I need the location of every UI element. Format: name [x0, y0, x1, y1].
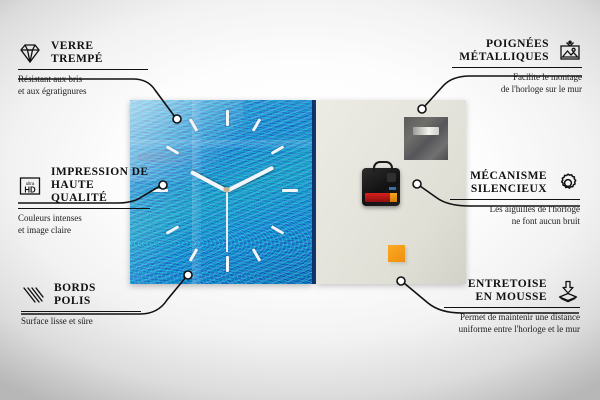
- clock-front-face: [130, 100, 312, 284]
- callout-title-line1: BORDS: [54, 282, 96, 295]
- callout-subtitle-line1: Permet de maintenir une distance: [444, 312, 580, 324]
- clock-mechanism: [362, 168, 400, 206]
- callout-bords-polis[interactable]: BORDS POLIS Surface lisse et sûre: [21, 282, 141, 328]
- clock-back-face: [316, 100, 466, 284]
- clock-hand-second: [226, 190, 228, 252]
- callout-title-line1: IMPRESSION DE: [51, 166, 150, 179]
- callout-title-line2: HAUTE QUALITÉ: [51, 179, 150, 205]
- callout-title-line2: EN MOUSSE: [468, 291, 547, 304]
- callout-subtitle-line1: Résistant aux bris: [18, 74, 148, 86]
- callout-poignees-metalliques[interactable]: POIGNÉES MÉTALLIQUES Facilite le montage…: [452, 38, 582, 95]
- callout-header: BORDS POLIS: [21, 282, 141, 308]
- svg-text:HD: HD: [24, 185, 36, 194]
- callout-header: ultra HD IMPRESSION DE HAUTE QUALITÉ: [18, 166, 150, 205]
- callout-verre-trempe[interactable]: VERRE TREMPÉ Résistant aux bris et aux é…: [18, 40, 148, 97]
- callout-subtitle-line1: Couleurs intenses: [18, 213, 150, 225]
- callout-subtitle-line1: Les aiguilles de l'horloge: [450, 204, 580, 216]
- callout-header: VERRE TREMPÉ: [18, 40, 148, 66]
- mechanism-dial: [387, 173, 396, 182]
- mechanism-hanging-loop: [373, 161, 393, 172]
- callout-subtitle-line1: Facilite le montage: [452, 72, 582, 84]
- mechanism-label: [389, 187, 396, 190]
- ultra-hd-icon: ultra HD: [18, 174, 42, 198]
- polished-edges-icon: [21, 283, 45, 307]
- callout-title-line1: MÉCANISME: [470, 170, 547, 183]
- clock-tick: [226, 110, 229, 126]
- callout-header: MÉCANISME SILENCIEUX: [450, 170, 580, 196]
- callout-subtitle-line1: Surface lisse et sûre: [21, 316, 141, 328]
- pattern-crossbar-horizontal: [130, 140, 312, 148]
- product-photo: [130, 100, 466, 284]
- callout-header: ENTRETOISE EN MOUSSE: [444, 278, 580, 304]
- callout-subtitle: Permet de maintenir une distance uniform…: [444, 312, 580, 335]
- callout-subtitle-line2: ne font aucun bruit: [450, 216, 580, 228]
- callout-rule: [18, 208, 150, 209]
- callout-subtitle: Couleurs intenses et image claire: [18, 213, 150, 236]
- callout-subtitle-line2: et aux égratignures: [18, 86, 148, 98]
- clock-tick: [152, 189, 168, 192]
- callout-rule: [18, 69, 148, 70]
- clock-tick: [282, 189, 298, 192]
- callout-subtitle-line2: et image claire: [18, 225, 150, 237]
- callout-subtitle-line2: de l'horloge sur le mur: [452, 84, 582, 96]
- callout-title-line2: SILENCIEUX: [470, 183, 547, 196]
- infographic-canvas: VERRE TREMPÉ Résistant aux bris et aux é…: [0, 0, 600, 400]
- clock-hand-hub: [224, 187, 229, 192]
- callout-rule: [444, 307, 580, 308]
- callout-subtitle: Résistant aux bris et aux égratignures: [18, 74, 148, 97]
- callout-rule: [452, 67, 582, 68]
- foam-spacer-icon: [556, 279, 580, 303]
- callout-header: POIGNÉES MÉTALLIQUES: [452, 38, 582, 64]
- diamond-icon: [18, 41, 42, 65]
- callout-rule: [21, 311, 141, 312]
- callout-title-line2: MÉTALLIQUES: [459, 51, 549, 64]
- gear-icon: [556, 171, 580, 195]
- metal-hanger-plate: [404, 117, 448, 160]
- callout-entretoise-en-mousse[interactable]: ENTRETOISE EN MOUSSE Permet de maintenir…: [444, 278, 580, 335]
- callout-title-line1: POIGNÉES: [459, 38, 549, 51]
- callout-subtitle: Facilite le montage de l'horloge sur le …: [452, 72, 582, 95]
- hanger-slot: [413, 127, 439, 135]
- callout-title-line2: POLIS: [54, 295, 96, 308]
- callout-impression-haute-qualite[interactable]: ultra HD IMPRESSION DE HAUTE QUALITÉ Cou…: [18, 166, 150, 236]
- foam-spacer: [388, 245, 405, 262]
- callout-subtitle: Les aiguilles de l'horloge ne font aucun…: [450, 204, 580, 227]
- callout-title-line1: VERRE: [51, 40, 103, 53]
- callout-title-line2: TREMPÉ: [51, 53, 103, 66]
- battery: [365, 193, 395, 202]
- callout-subtitle: Surface lisse et sûre: [21, 316, 141, 328]
- callout-mecanisme-silencieux[interactable]: MÉCANISME SILENCIEUX Les aiguilles de l'…: [450, 170, 580, 227]
- callout-title-line1: ENTRETOISE: [468, 278, 547, 291]
- callout-subtitle-line2: uniforme entre l'horloge et le mur: [444, 324, 580, 336]
- callout-rule: [450, 199, 580, 200]
- clock-tick: [226, 256, 229, 272]
- hanging-picture-icon: [558, 39, 582, 63]
